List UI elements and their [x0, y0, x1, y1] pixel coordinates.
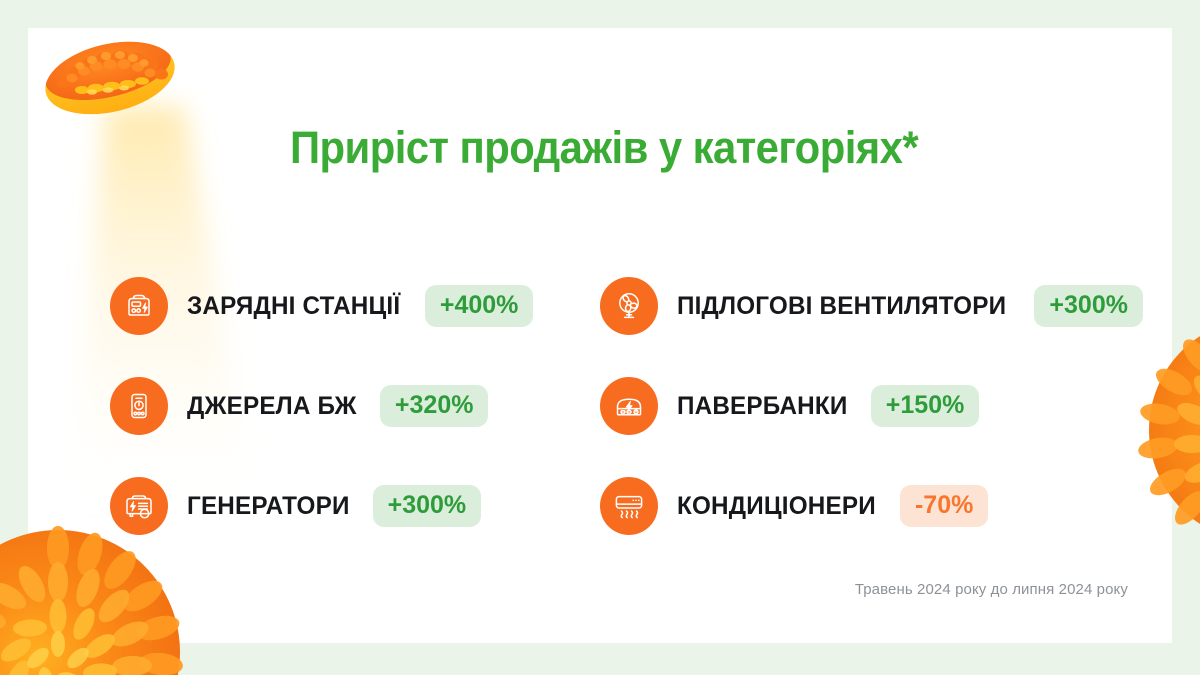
footnote-period: Травень 2024 року до липня 2024 року: [855, 581, 1128, 598]
stat-item-floor-fans[interactable]: ПІДЛОГОВІ ВЕНТИЛЯТОРИ +300%: [600, 276, 1140, 336]
content-card: Приріст продажів у категоріях*: [28, 28, 1172, 643]
stat-label: ПІДЛОГОВІ ВЕНТИЛЯТОРИ: [677, 292, 1006, 321]
stat-item-ups[interactable]: ДЖЕРЕЛА БЖ +320%: [110, 376, 600, 436]
ups-icon: [110, 377, 168, 435]
portable-power-station-icon: [110, 277, 168, 335]
stat-value-badge: +400%: [425, 285, 534, 327]
stat-label: ДЖЕРЕЛА БЖ: [187, 392, 357, 421]
slide-canvas: Приріст продажів у категоріях*: [0, 0, 1200, 675]
stat-value-badge: +150%: [871, 385, 980, 427]
air-conditioner-icon: [600, 477, 658, 535]
stat-value-badge: -70%: [900, 485, 988, 527]
stat-item-power-banks[interactable]: ПАВЕРБАНКИ +150%: [600, 376, 1140, 436]
stats-row: ЗАРЯДНІ СТАНЦІЇ +400%: [110, 276, 1150, 336]
stat-label: ПАВЕРБАНКИ: [677, 392, 848, 421]
stat-label: ЗАРЯДНІ СТАНЦІЇ: [187, 292, 400, 321]
stat-label: ГЕНЕРАТОРИ: [187, 492, 350, 521]
generator-icon: [110, 477, 168, 535]
floor-fan-icon: [600, 277, 658, 335]
stats-row: ГЕНЕРАТОРИ +300%: [110, 476, 1150, 536]
stat-label: КОНДИЦІОНЕРИ: [677, 492, 876, 521]
stats-grid: ЗАРЯДНІ СТАНЦІЇ +400%: [110, 276, 1150, 536]
stat-item-charging-stations[interactable]: ЗАРЯДНІ СТАНЦІЇ +400%: [110, 276, 600, 336]
page-title: Приріст продажів у категоріях*: [290, 125, 918, 170]
stat-value-badge: +300%: [1034, 285, 1143, 327]
power-bank-icon: [600, 377, 658, 435]
stat-item-air-conditioners[interactable]: КОНДИЦІОНЕРИ -70%: [600, 476, 1140, 536]
stats-row: ДЖЕРЕЛА БЖ +320%: [110, 376, 1150, 436]
stat-value-badge: +300%: [373, 485, 482, 527]
stat-value-badge: +320%: [380, 385, 489, 427]
stat-item-generators[interactable]: ГЕНЕРАТОРИ +300%: [110, 476, 600, 536]
